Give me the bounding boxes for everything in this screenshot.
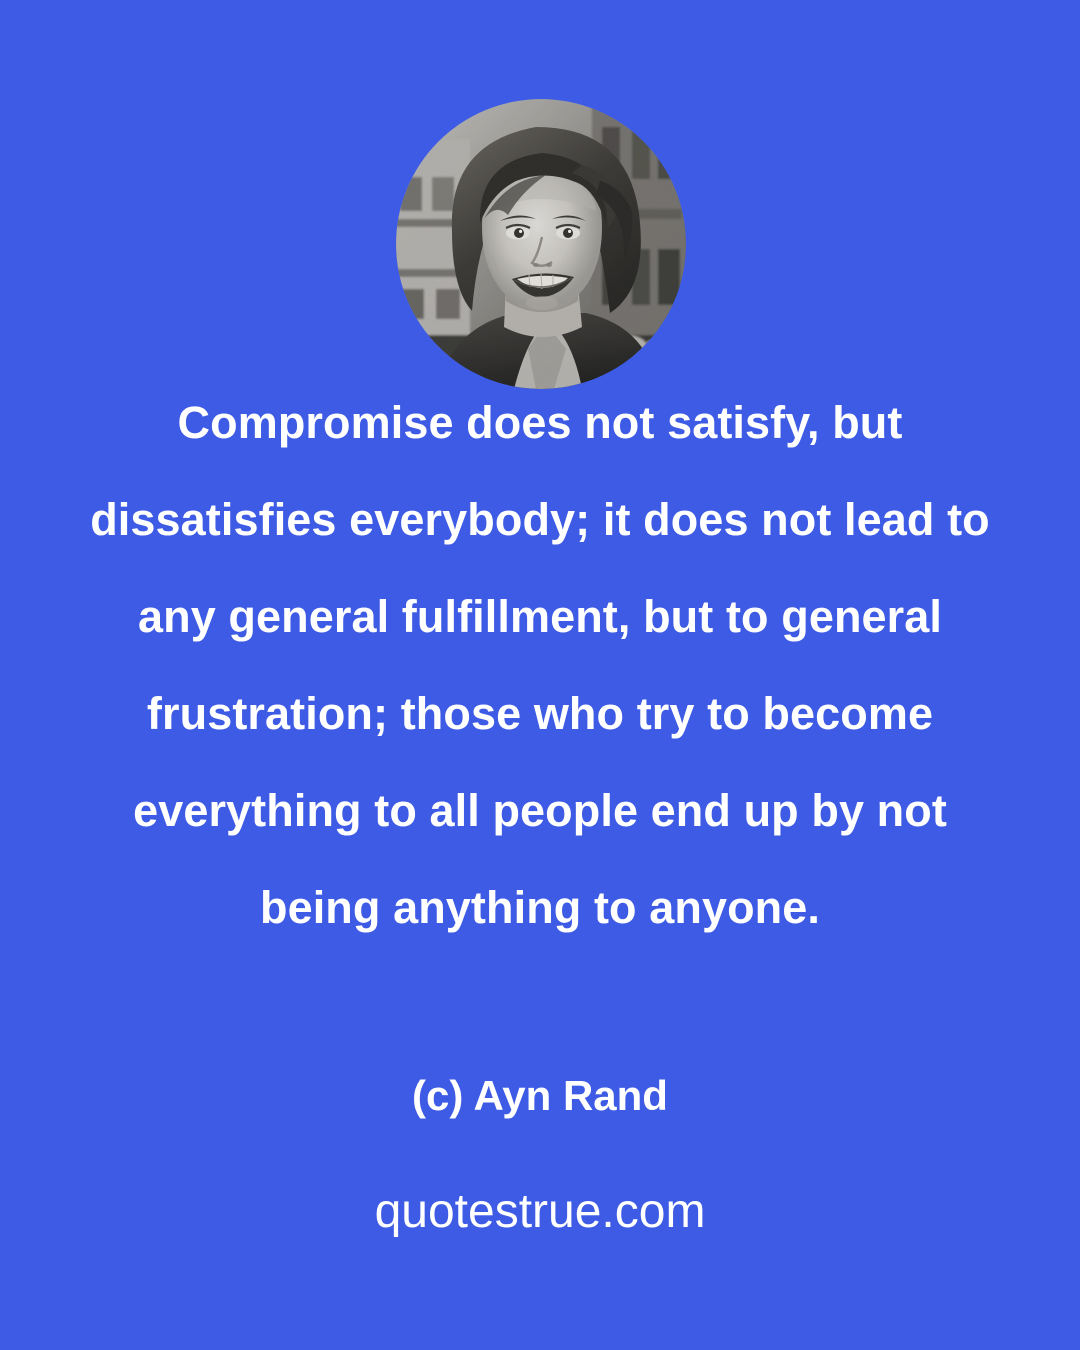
author-portrait (396, 99, 686, 389)
portrait-photo-icon (396, 99, 686, 389)
quote-attribution: (c) Ayn Rand (0, 1070, 1080, 1122)
quote-card: Compromise does not satisfy, but dissati… (0, 0, 1080, 1350)
quote-text: Compromise does not satisfy, but dissati… (0, 374, 1080, 956)
quote-block: Compromise does not satisfy, but dissati… (0, 374, 1080, 956)
site-watermark: quotestrue.com (0, 1182, 1080, 1242)
